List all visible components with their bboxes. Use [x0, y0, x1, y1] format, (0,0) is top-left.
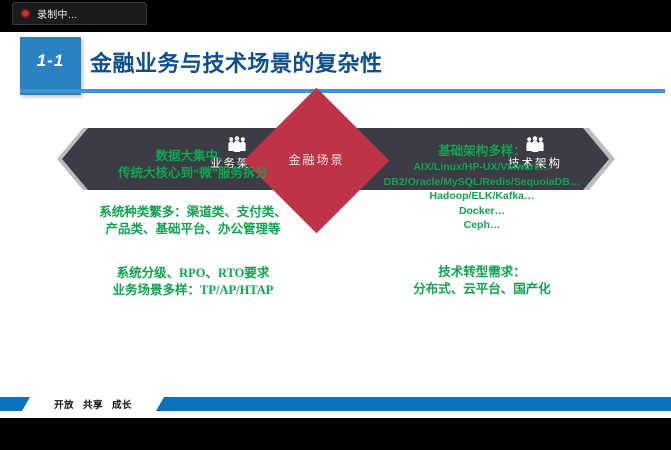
recording-tab-label: 录制中… [37, 6, 78, 21]
title-underline-rule [20, 89, 665, 93]
right-text-line: AIX/Linux/HP-UX/VMware… [337, 160, 627, 175]
recording-tab[interactable]: 录制中… [12, 2, 147, 25]
browser-chrome: 录制中… [0, 0, 671, 32]
record-dot-icon [21, 9, 30, 18]
right-text-line: 基础架构多样： [337, 143, 627, 160]
right-text-line: Hadoop/ELK/Kafka… [337, 189, 627, 204]
slide-number-badge: 1-1 [20, 37, 81, 95]
right-text-line: 分布式、云平台、国产化 [337, 281, 627, 298]
page-title: 金融业务与技术场景的复杂性 [90, 46, 383, 78]
right-text-line: Docker… [337, 204, 627, 219]
left-text-line: 数据大集中、 [48, 148, 338, 165]
left-text-line: 业务场景多样：TP/AP/HTAP [48, 282, 338, 299]
footer-word: 成长 [112, 397, 132, 411]
right-text-line: DB2/Oracle/MySQL/Redis/SequoiaDB… [337, 175, 627, 190]
left-text-block-3: 系统分级、RPO、RTO要求业务场景多样：TP/AP/HTAP [48, 265, 338, 299]
footer-word: 开放 [54, 397, 74, 411]
slide-canvas: 1-1 金融业务与技术场景的复杂性 业务架构 [0, 32, 671, 418]
footer-slogan: 开放共享成长 [22, 397, 164, 411]
right-text-line: 技术转型需求： [337, 264, 627, 281]
slide-number-label: 1-1 [20, 51, 81, 71]
left-text-block-2: 系统种类繁多：渠道类、支付类、产品类、基础平台、办公管理等 [48, 204, 338, 238]
screen: 录制中… 1-1 金融业务与技术场景的复杂性 [0, 0, 671, 450]
left-text-line: 产品类、基础平台、办公管理等 [48, 221, 338, 238]
left-text-line: 系统种类繁多：渠道类、支付类、 [48, 204, 338, 221]
left-text-line: 系统分级、RPO、RTO要求 [48, 265, 338, 282]
left-text-block-1: 数据大集中、传统大核心到“微”服务拆分 [48, 148, 338, 182]
left-text-line: 传统大核心到“微”服务拆分 [48, 165, 338, 182]
right-text-block-2: 技术转型需求：分布式、云平台、国产化 [337, 264, 627, 298]
footer-word: 共享 [83, 397, 103, 411]
bottom-letterbox [0, 418, 671, 450]
right-text-block-1: 基础架构多样：AIX/Linux/HP-UX/VMware…DB2/Oracle… [337, 143, 627, 233]
right-text-line: Ceph… [337, 218, 627, 233]
